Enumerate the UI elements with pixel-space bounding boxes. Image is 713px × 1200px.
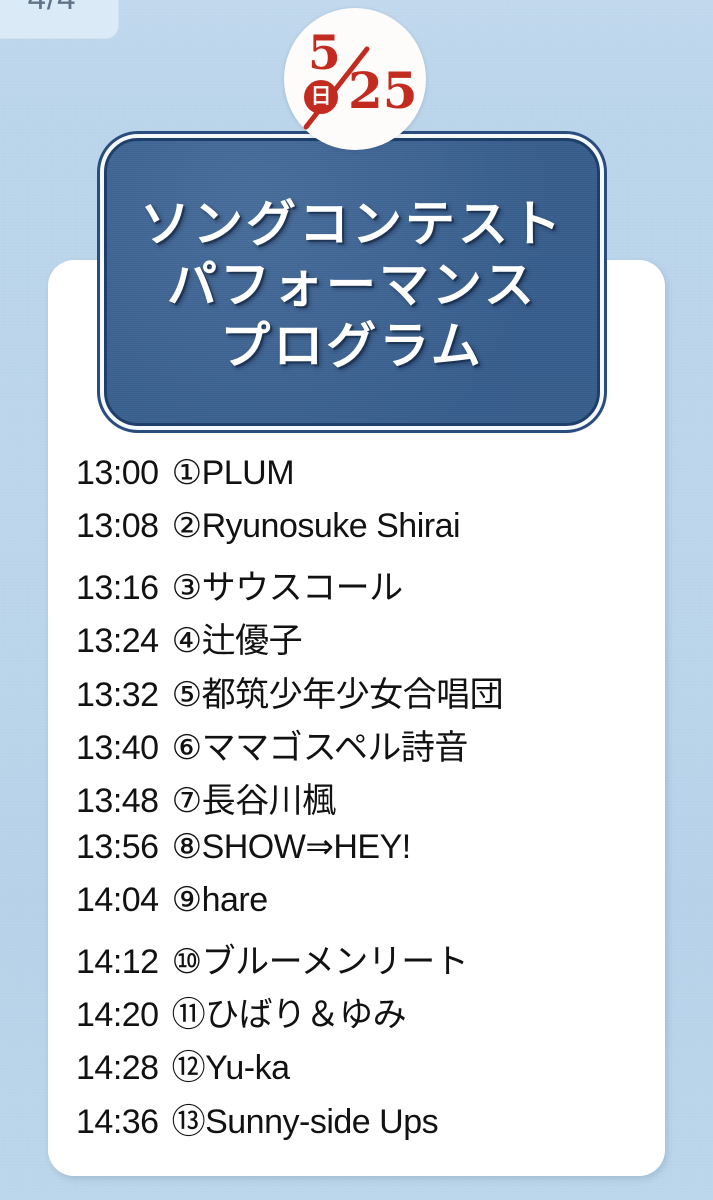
program-entry: ⑤都筑少年少女合唱団	[172, 667, 503, 716]
program-row: 14:28⑫Yu-ka	[76, 1040, 665, 1093]
title-line-1: ソングコンテスト	[140, 194, 564, 255]
program-entry: ⑩ブルーメンリート	[172, 934, 469, 983]
weekday-badge: 日	[304, 80, 338, 114]
poster-page: 4/4 ソングコンテスト パフォーマンス プログラム 5 日 25 13:00①…	[0, 0, 713, 1200]
title-line-3: プログラム	[220, 316, 484, 377]
program-time: 13:00	[76, 454, 159, 493]
program-row: 13:32⑤都筑少年少女合唱団	[76, 667, 665, 720]
program-time: 14:12	[76, 943, 159, 982]
program-time: 13:32	[76, 676, 159, 715]
title-plaque: ソングコンテスト パフォーマンス プログラム	[104, 138, 600, 426]
program-time: 13:24	[76, 622, 159, 661]
program-entry: ⑦長谷川楓	[172, 773, 336, 822]
program-row: 13:00①PLUM	[76, 453, 665, 506]
program-row: 13:48⑦長谷川楓	[76, 773, 665, 826]
page-counter-badge: 4/4	[0, 0, 118, 38]
program-entry: ⑫Yu-ka	[172, 1040, 290, 1089]
program-entry: ①PLUM	[172, 453, 294, 493]
program-time: 14:36	[76, 1103, 159, 1142]
program-entry: ⑬Sunny-side Ups	[172, 1094, 439, 1143]
program-time: 13:16	[76, 569, 159, 608]
program-row: 13:24④辻優子	[76, 613, 665, 666]
program-time: 14:28	[76, 1049, 159, 1088]
program-entry: ⑧SHOW⇒HEY!	[172, 827, 411, 867]
program-entry: ④辻優子	[172, 613, 302, 662]
program-time: 14:20	[76, 996, 159, 1035]
program-row: 14:12⑩ブルーメンリート	[76, 934, 665, 987]
program-row: 14:36⑬Sunny-side Ups	[76, 1094, 665, 1147]
program-time: 13:40	[76, 729, 159, 768]
program-row: 14:04⑨hare	[76, 880, 665, 933]
page-counter-label: 4/4	[28, 0, 77, 14]
program-row: 13:40⑥ママゴスペル詩音	[76, 720, 665, 773]
program-row: 14:20⑪ひばり＆ゆみ	[76, 987, 665, 1040]
program-row: 13:16③サウスコール	[76, 560, 665, 613]
program-entry: ②Ryunosuke Shirai	[172, 506, 460, 546]
date-badge: 5 日 25	[284, 8, 426, 150]
program-entry: ⑪ひばり＆ゆみ	[172, 987, 407, 1036]
program-row: 13:56⑧SHOW⇒HEY!	[76, 827, 665, 880]
program-time: 13:56	[76, 828, 159, 867]
program-row: 13:08②Ryunosuke Shirai	[76, 506, 665, 559]
program-time: 13:48	[76, 782, 159, 821]
title-line-2: パフォーマンス	[167, 255, 537, 316]
program-time: 14:04	[76, 881, 159, 920]
program-entry: ⑨hare	[172, 880, 268, 920]
program-entry: ③サウスコール	[172, 560, 403, 609]
program-time: 13:08	[76, 507, 159, 546]
program-entry: ⑥ママゴスペル詩音	[172, 720, 468, 769]
